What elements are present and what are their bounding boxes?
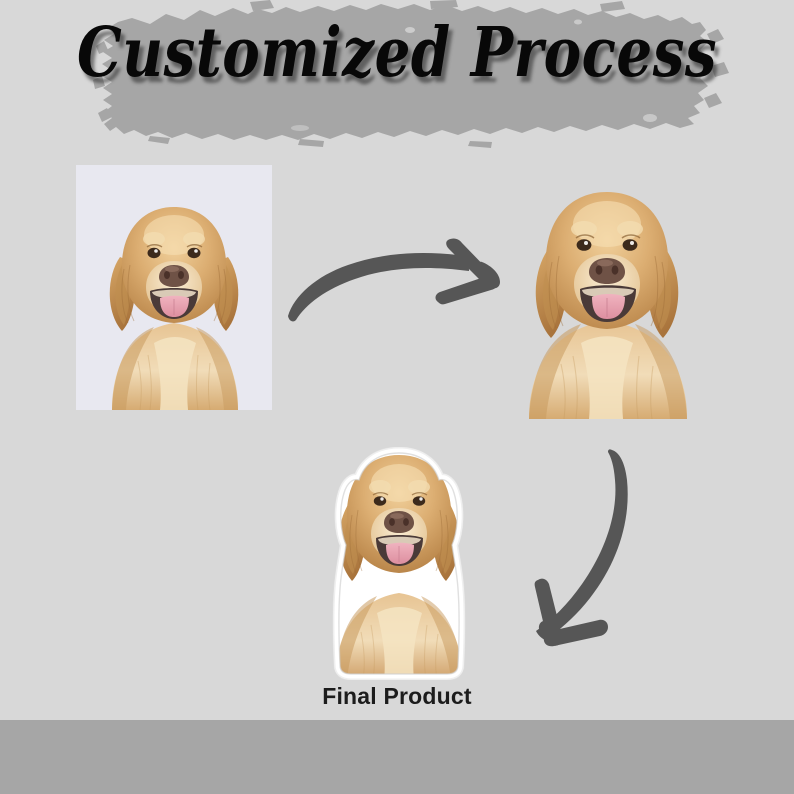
curved-arrow-right-icon (288, 239, 500, 322)
step-background-removed (505, 180, 710, 422)
golden-retriever-photo (76, 165, 272, 410)
page-title: Customized Process (12, 14, 782, 93)
curved-arrow-down-left-icon (535, 449, 628, 646)
final-product-label: Final Product (0, 683, 794, 710)
arrow-step1-to-step2 (282, 232, 522, 347)
step-final-product (325, 447, 473, 680)
arrow-step2-to-step3 (492, 432, 672, 664)
infographic-canvas: Customized Process (0, 0, 794, 794)
footer-bar (0, 720, 794, 794)
step-original-photo (76, 165, 272, 410)
golden-retriever-cutout (505, 180, 710, 422)
contour-cut-pillow (325, 447, 473, 680)
